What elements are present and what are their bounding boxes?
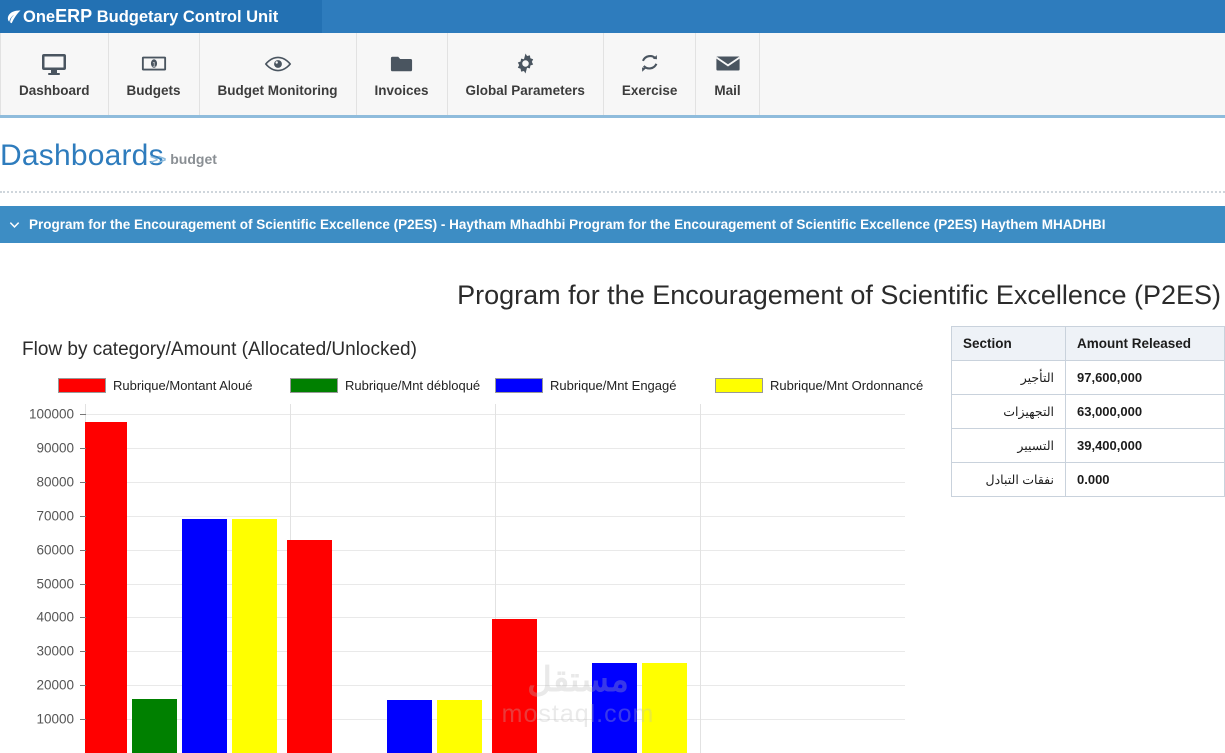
chart-bar[interactable] <box>387 700 432 753</box>
legend-swatch <box>715 378 763 393</box>
chart-legend: Rubrique/Montant AlouéRubrique/Mnt déblo… <box>0 378 905 400</box>
y-axis-tick-mark <box>80 584 86 585</box>
y-axis-tick-label: 70000 <box>2 508 74 523</box>
dashboard-main-title: Program for the Encouragement of Scienti… <box>0 280 1225 311</box>
nav-item-global-parameters[interactable]: Global Parameters <box>448 33 604 115</box>
chevron-down-icon[interactable] <box>8 218 21 231</box>
bar-chart: Rubrique/Montant AlouéRubrique/Mnt déblo… <box>0 378 905 753</box>
legend-swatch <box>58 378 106 393</box>
chart-bar[interactable] <box>182 519 227 753</box>
legend-item[interactable]: Rubrique/Mnt débloqué <box>290 378 480 393</box>
page-title: Dashboards <box>0 139 164 173</box>
y-axis-tick-label: 100000 <box>2 407 74 422</box>
chart-bar[interactable] <box>85 422 127 753</box>
cell-amount-released: 97,600,000 <box>1066 361 1225 395</box>
amount-released-table: Section Amount Released التأجير97,600,00… <box>951 326 1225 497</box>
chart-bar[interactable] <box>642 663 687 753</box>
nav-label-invoices: Invoices <box>375 83 429 98</box>
chart-bar[interactable] <box>132 699 177 753</box>
legend-label: Rubrique/Mnt Ordonnancé <box>770 378 923 393</box>
y-axis-tick-label: 80000 <box>2 474 74 489</box>
table-row: التجهيزات63,000,000 <box>952 395 1225 429</box>
table-row: نفقات التبادل0.000 <box>952 463 1225 497</box>
y-axis-tick-mark <box>80 482 86 483</box>
chart-plot-area: 1000009000080000700006000050000400003000… <box>0 404 905 753</box>
cell-section: التسيير <box>952 429 1066 463</box>
table-row: التسيير39,400,000 <box>952 429 1225 463</box>
y-axis-tick-mark <box>80 448 86 449</box>
chart-bar[interactable] <box>232 519 277 753</box>
nav-label-global-parameters: Global Parameters <box>466 83 585 98</box>
breadcrumb-arrows: >> <box>150 151 166 167</box>
table-body: التأجير97,600,000التجهيزات63,000,000التس… <box>952 361 1225 497</box>
gridline-vertical <box>700 404 701 753</box>
y-axis-tick-label: 90000 <box>2 441 74 456</box>
brand-bar: OneERP Budgetary Control Unit <box>0 0 1225 33</box>
chart-bar[interactable] <box>492 619 537 753</box>
brand-logo-area[interactable]: OneERP Budgetary Control Unit <box>0 0 322 33</box>
breadcrumb-area: Dashboards >> budget <box>0 121 1225 206</box>
legend-swatch <box>290 378 338 393</box>
cell-section: التأجير <box>952 361 1066 395</box>
brand-word-erp: ERP <box>55 6 92 26</box>
column-header-section: Section <box>952 327 1066 361</box>
legend-label: Rubrique/Montant Aloué <box>113 378 252 393</box>
y-axis-tick-mark <box>80 550 86 551</box>
legend-item[interactable]: Rubrique/Mnt Ordonnancé <box>715 378 923 393</box>
nav-item-exercise[interactable]: Exercise <box>604 33 697 115</box>
nav-label-budget-monitoring: Budget Monitoring <box>218 83 338 98</box>
nav-item-dashboard[interactable]: Dashboard <box>0 33 109 115</box>
envelope-icon <box>715 51 741 77</box>
cell-amount-released: 63,000,000 <box>1066 395 1225 429</box>
column-header-amount-released: Amount Released <box>1066 327 1225 361</box>
y-axis-tick-label: 10000 <box>2 712 74 727</box>
brand-word-rest: Budgetary Control Unit <box>97 8 279 26</box>
y-axis-tick-label: 30000 <box>2 644 74 659</box>
y-axis-tick-mark <box>80 651 86 652</box>
y-axis-tick-mark <box>80 414 86 415</box>
cell-section: التجهيزات <box>952 395 1066 429</box>
collapsible-section-header[interactable]: Program for the Encouragement of Scienti… <box>0 206 1225 243</box>
y-axis-tick-mark <box>80 617 86 618</box>
folder-icon <box>389 51 414 77</box>
cell-section: نفقات التبادل <box>952 463 1066 497</box>
legend-item[interactable]: Rubrique/Montant Aloué <box>58 378 252 393</box>
monitor-icon <box>41 51 67 77</box>
brand-word-one: One <box>23 8 55 26</box>
refresh-icon <box>638 51 661 77</box>
y-axis-tick-mark <box>80 516 86 517</box>
main-nav: Dashboard 1 Budgets Budget Monitoring In… <box>0 33 1225 118</box>
nav-label-mail: Mail <box>714 83 740 98</box>
gear-icon <box>514 51 537 77</box>
nav-item-budget-monitoring[interactable]: Budget Monitoring <box>200 33 357 115</box>
eye-icon <box>264 51 292 77</box>
legend-label: Rubrique/Mnt débloqué <box>345 378 480 393</box>
section-header-text: Program for the Encouragement of Scienti… <box>29 217 1106 232</box>
y-axis-tick-label: 50000 <box>2 576 74 591</box>
chart-bar[interactable] <box>287 540 332 753</box>
nav-item-mail[interactable]: Mail <box>696 33 759 115</box>
y-axis-tick-mark <box>80 719 86 720</box>
nav-item-invoices[interactable]: Invoices <box>357 33 448 115</box>
table-row: التأجير97,600,000 <box>952 361 1225 395</box>
y-axis-tick-label: 60000 <box>2 542 74 557</box>
leaf-icon <box>6 9 22 25</box>
legend-swatch <box>495 378 543 393</box>
y-axis-tick-mark <box>80 685 86 686</box>
chart-bar[interactable] <box>437 700 482 753</box>
legend-item[interactable]: Rubrique/Mnt Engagé <box>495 378 676 393</box>
divider <box>0 191 1225 193</box>
breadcrumb-current[interactable]: budget <box>170 151 217 167</box>
banknote-icon: 1 <box>141 51 167 77</box>
nav-label-exercise: Exercise <box>622 83 678 98</box>
chart-bar[interactable] <box>592 663 637 753</box>
chart-title: Flow by category/Amount (Allocated/Unloc… <box>22 339 417 361</box>
y-axis-tick-label: 40000 <box>2 610 74 625</box>
legend-label: Rubrique/Mnt Engagé <box>550 378 676 393</box>
breadcrumb: >> budget <box>150 151 217 167</box>
nav-label-budgets: Budgets <box>127 83 181 98</box>
svg-text:1: 1 <box>152 61 156 68</box>
cell-amount-released: 39,400,000 <box>1066 429 1225 463</box>
table-header-row: Section Amount Released <box>952 327 1225 361</box>
cell-amount-released: 0.000 <box>1066 463 1225 497</box>
nav-label-dashboard: Dashboard <box>19 83 90 98</box>
chart-gridlines <box>85 404 905 753</box>
y-axis-tick-label: 20000 <box>2 678 74 693</box>
nav-item-budgets[interactable]: 1 Budgets <box>109 33 200 115</box>
brand-title: OneERP Budgetary Control Unit <box>23 0 278 34</box>
